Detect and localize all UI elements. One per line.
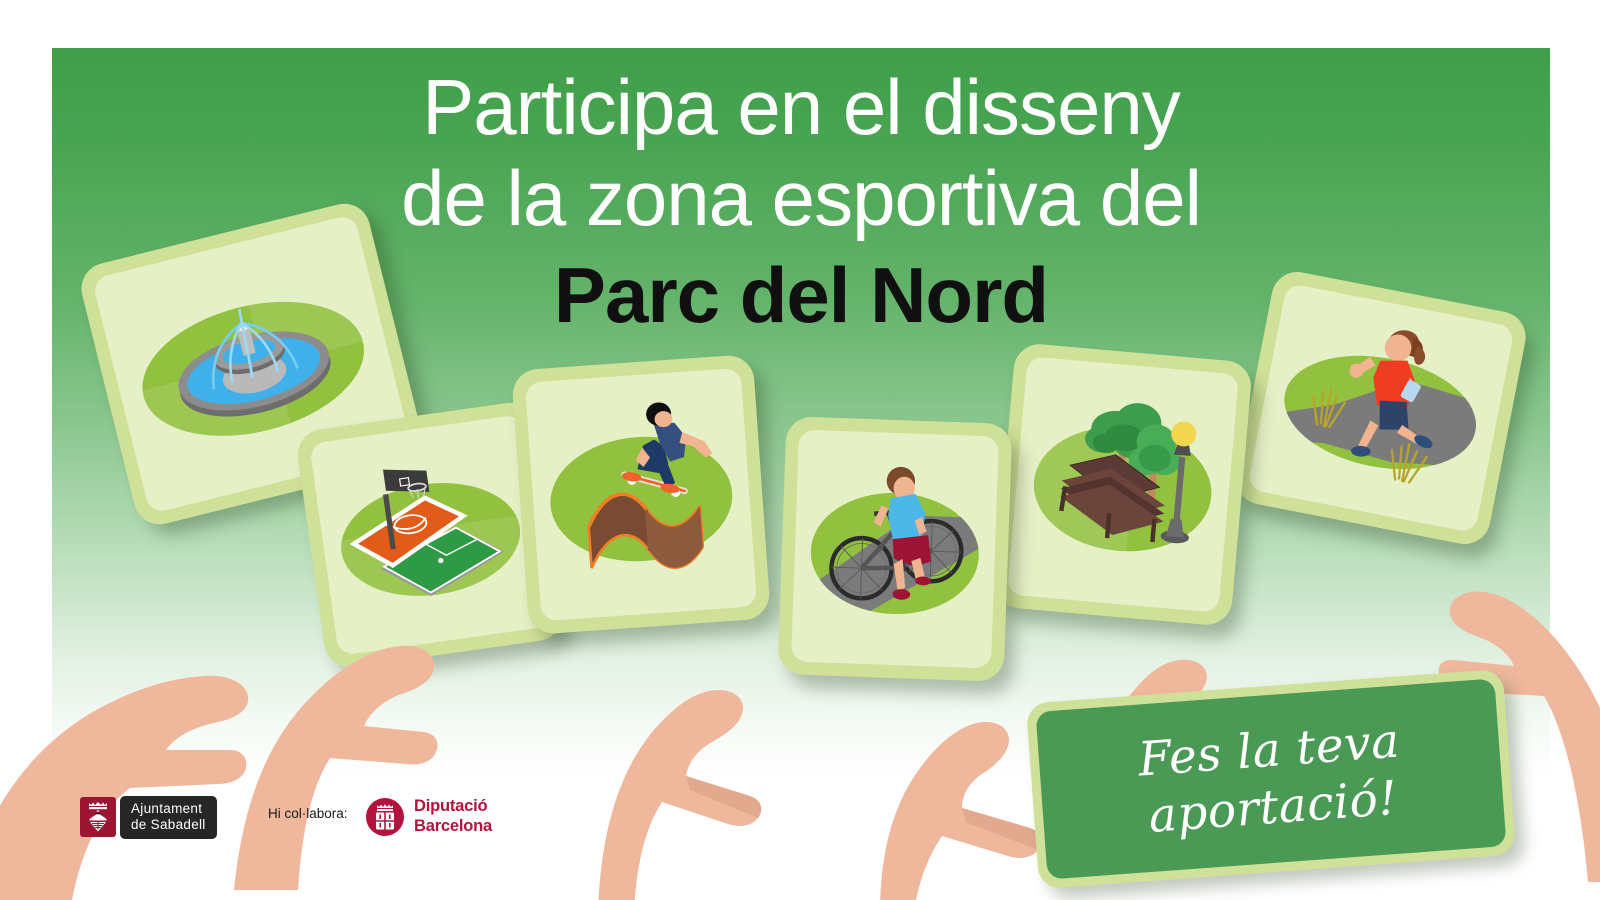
sabadell-crest-icon	[80, 797, 116, 837]
sabadell-name-line-2: de Sabadell	[131, 817, 206, 833]
diba-name: Diputació Barcelona	[414, 797, 492, 837]
collaborator-label: Hi col·labora:	[268, 806, 348, 821]
logo-diputacio-barcelona: Diputació Barcelona	[366, 797, 492, 837]
diba-crest-icon	[366, 798, 404, 836]
poster-canvas: Participa en el disseny de la zona espor…	[0, 0, 1600, 900]
diba-name-line-1: Diputació	[414, 797, 492, 817]
cta-card[interactable]: Fes la teva aportació!	[1026, 669, 1516, 890]
diba-name-line-2: Barcelona	[414, 817, 492, 837]
sabadell-name-box: Ajuntament de Sabadell	[120, 796, 217, 839]
footer-logos: Ajuntament de Sabadell Hi col·labora:	[0, 790, 1600, 850]
hand-middle-left	[588, 584, 848, 900]
logo-ajuntament-sabadell: Ajuntament de Sabadell	[80, 796, 217, 839]
sabadell-name-line-1: Ajuntament	[131, 801, 206, 817]
